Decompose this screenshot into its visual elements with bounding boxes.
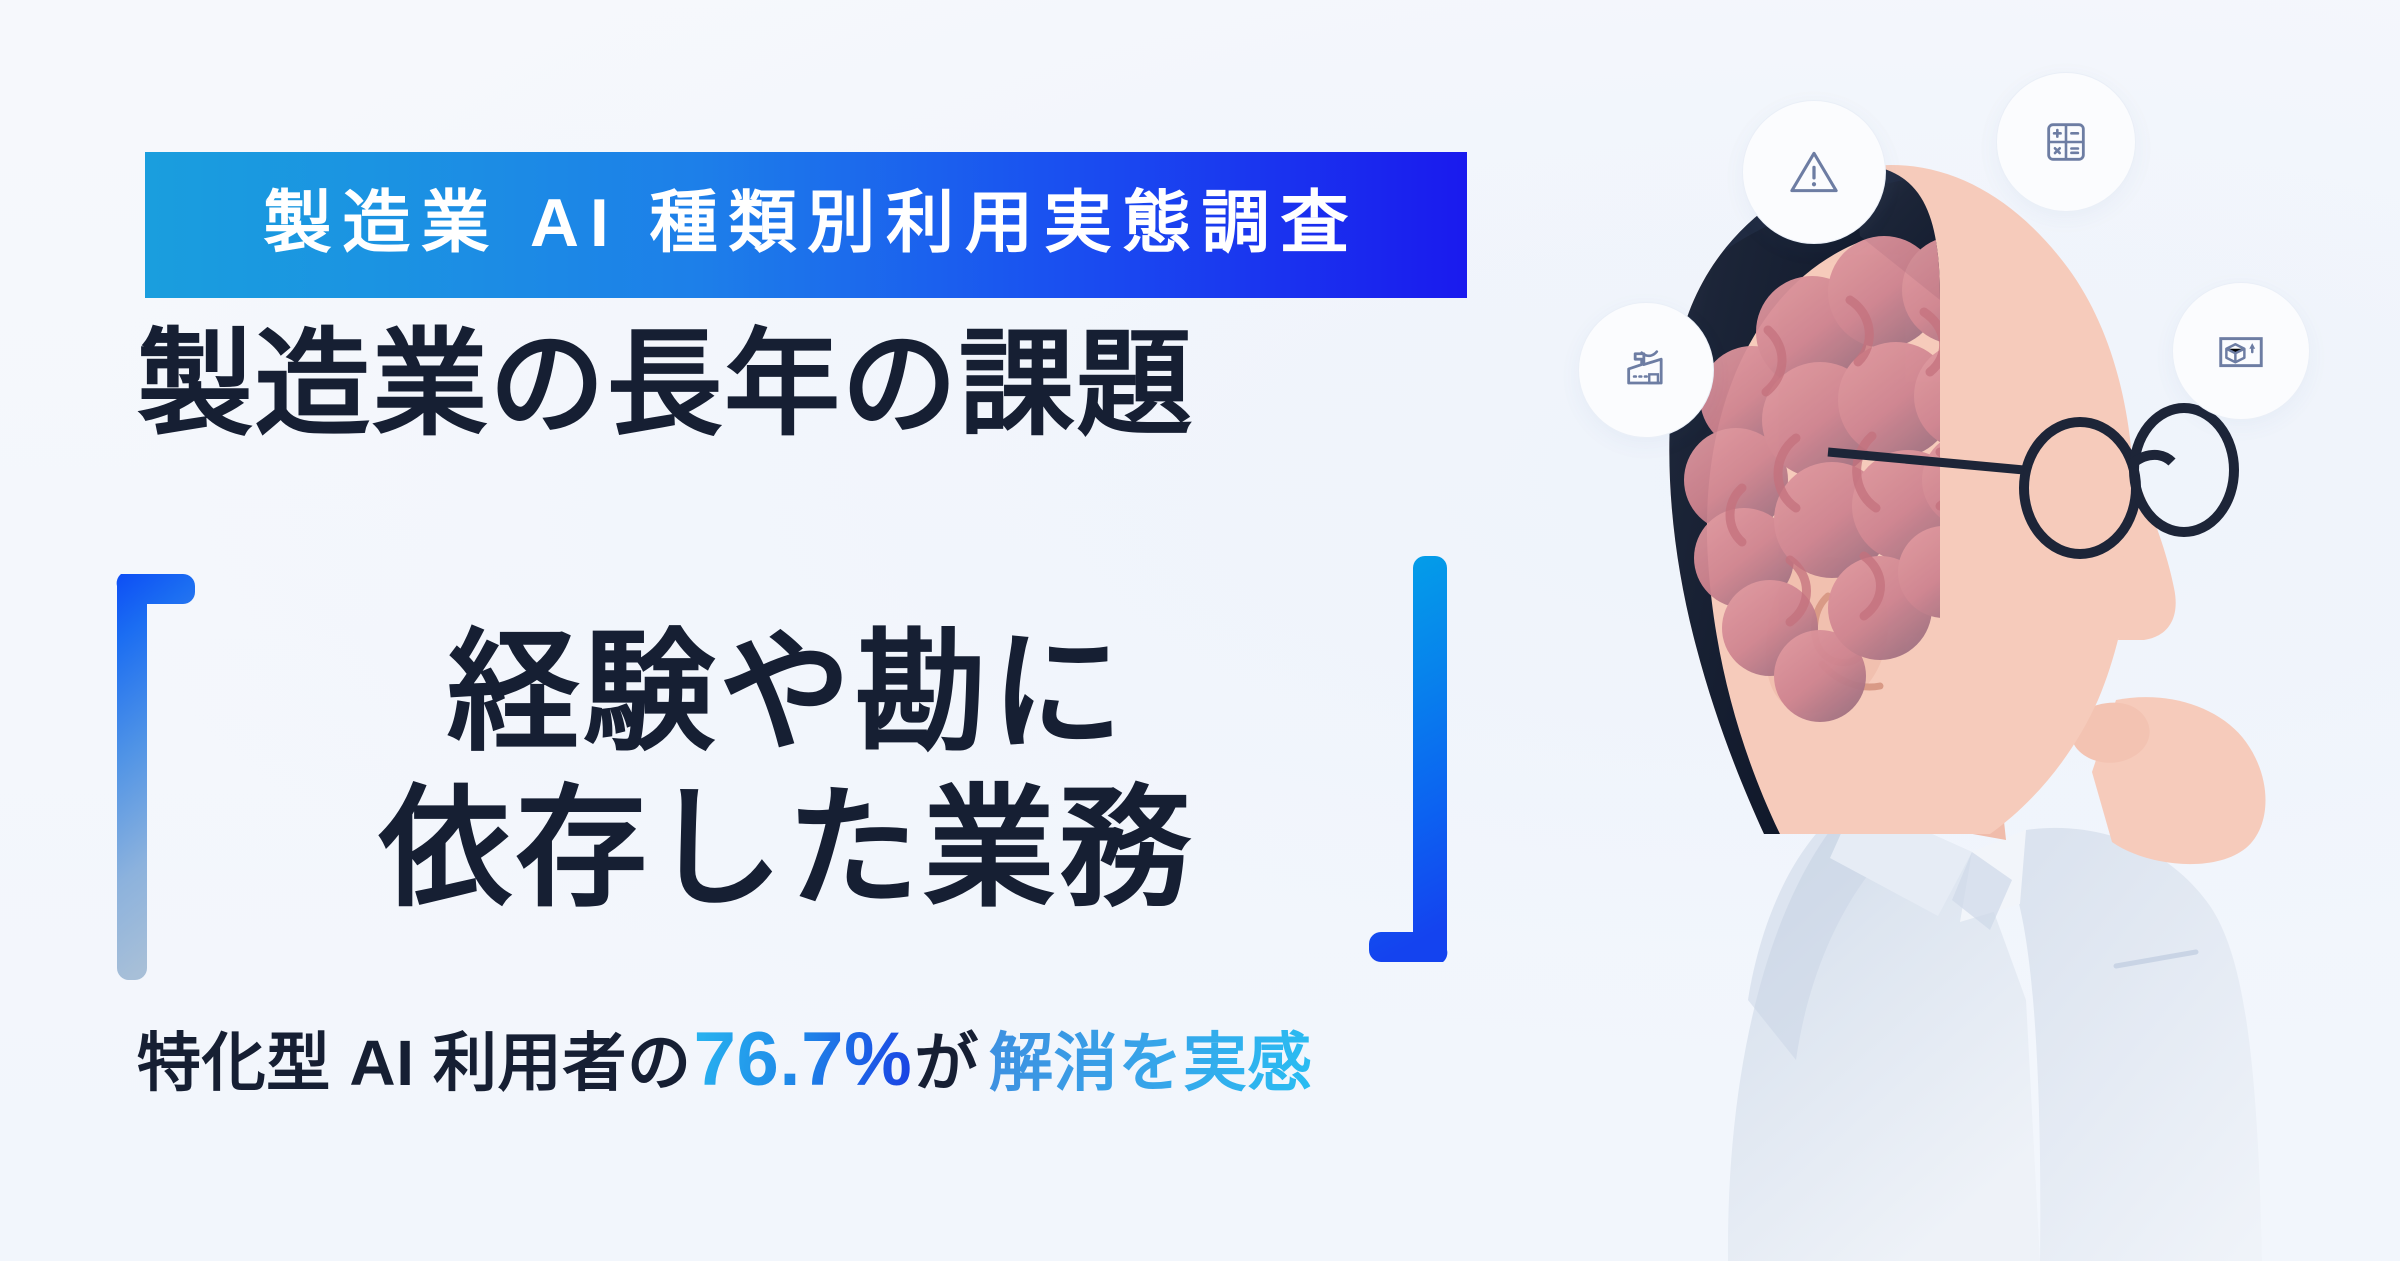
thinking-worker-illustration bbox=[1520, 0, 2400, 1261]
finding-accent: 解消を実感 bbox=[979, 1025, 1312, 1102]
finding-percentage: 76.7% bbox=[692, 1014, 915, 1105]
warning-icon bbox=[1786, 144, 1842, 200]
inspection-chip bbox=[2172, 282, 2310, 420]
survey-badge-label: 製造業 AI 種類別利用実態調査 bbox=[253, 189, 1360, 257]
quote-lines: 経験や勘に 依存した業務 bbox=[201, 556, 1369, 986]
calculator-icon bbox=[2040, 116, 2092, 168]
page-title: 製造業の長年の課題 bbox=[137, 322, 1194, 447]
text-column: 製造業 AI 種類別利用実態調査 製造業の長年の課題 bbox=[145, 0, 1485, 1261]
quote-line-2: 依存した業務 bbox=[375, 775, 1195, 923]
close-bracket-icon bbox=[1369, 556, 1465, 986]
finding-lead: 特化型 AI 利用者の bbox=[137, 1025, 692, 1102]
open-bracket-icon bbox=[105, 556, 201, 986]
quote-block: 経験や勘に 依存した業務 bbox=[105, 556, 1465, 986]
survey-finding: 特化型 AI 利用者の 76.7% が 解消を実感 bbox=[137, 1014, 1312, 1105]
inspection-icon bbox=[2214, 324, 2268, 378]
warning-chip bbox=[1742, 100, 1886, 244]
hero-banner: 製造業 AI 種類別利用実態調査 製造業の長年の課題 bbox=[0, 0, 2400, 1261]
survey-badge: 製造業 AI 種類別利用実態調査 bbox=[145, 152, 1467, 298]
calculator-chip bbox=[1996, 72, 2136, 212]
factory-icon bbox=[1620, 344, 1672, 396]
factory-chip bbox=[1578, 302, 1714, 438]
finding-connector: が bbox=[914, 1025, 979, 1102]
quote-line-1: 経験や勘に bbox=[443, 619, 1127, 767]
